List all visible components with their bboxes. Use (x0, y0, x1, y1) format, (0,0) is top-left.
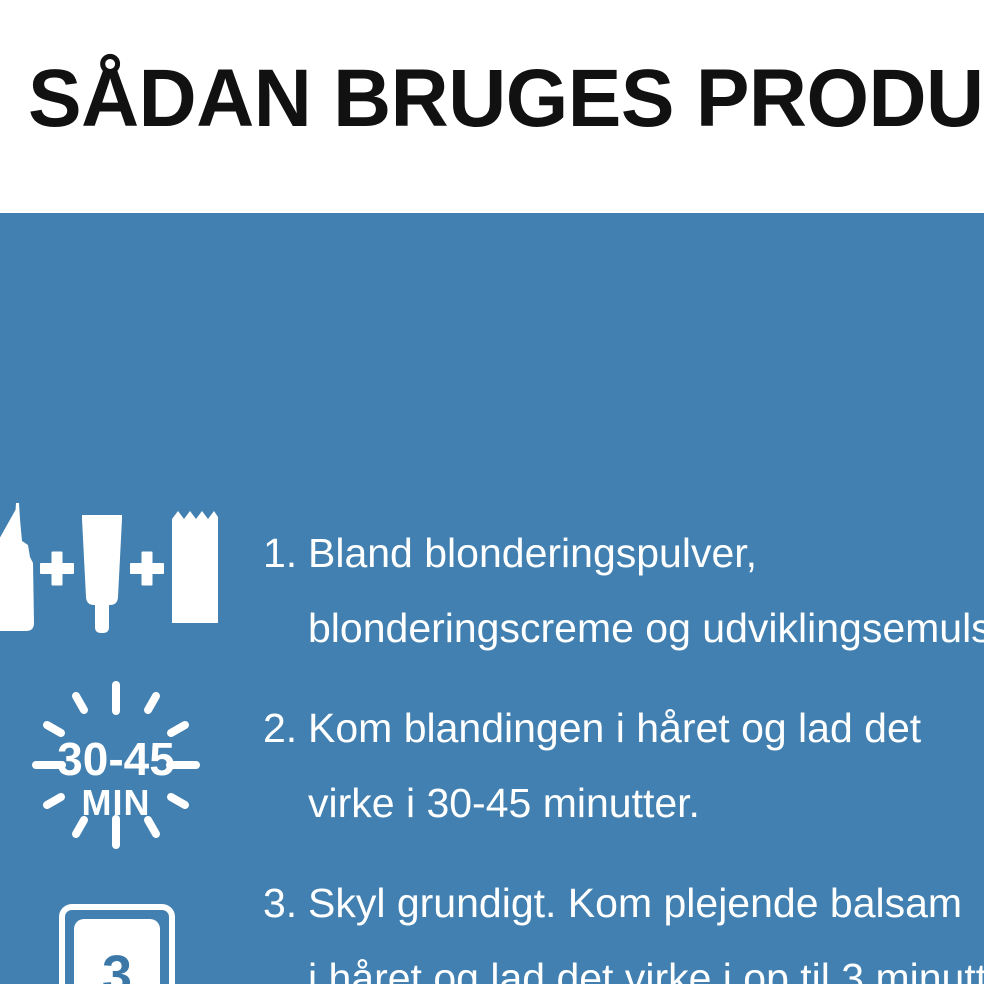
cream-tube-icon (82, 515, 122, 633)
plus-icon (40, 552, 74, 586)
step-2-number: 2. (263, 691, 297, 766)
timer-value-label: 30-45 (57, 733, 175, 785)
mix-products-svg (0, 501, 232, 641)
step-3-line-1: Skyl grundigt. Kom plejende balsam (308, 866, 962, 941)
mix-products-icon (0, 501, 232, 641)
infographic-page: SÅDAN BRUGES PRODUKTET (0, 0, 984, 984)
header-band: SÅDAN BRUGES PRODUKTET (0, 0, 984, 213)
plus-icon (130, 552, 164, 586)
timer-unit-label: MIN (82, 782, 151, 823)
step-2-line-2: virke i 30-45 minutter. (308, 766, 700, 841)
powder-sachet-icon (172, 511, 218, 623)
step-2-line-1: Kom blandingen i håret og lad det (308, 691, 921, 766)
card-value-label: 3 (102, 945, 132, 984)
page-title: SÅDAN BRUGES PRODUKTET (28, 56, 984, 142)
timer-3-min-card-svg: 3 MIN (58, 903, 176, 984)
timer-3-min-card-icon: 3 MIN (58, 903, 176, 984)
step-1-line-2: blonderingscreme og udviklingsemulsion (308, 591, 984, 666)
step-1-number: 1. (263, 516, 297, 591)
step-1-line-1: Bland blonderingspulver, (308, 516, 757, 591)
timer-30-45-min-svg: 30-45 MIN (18, 679, 214, 851)
instructions-panel: 30-45 MIN 3 MIN 1. Bland blonderingspulv… (0, 213, 984, 984)
step-3-line-2: i håret og lad det virke i op til 3 minu… (308, 941, 984, 984)
timer-30-45-min-icon: 30-45 MIN (18, 679, 214, 851)
step-3-number: 3. (263, 866, 297, 941)
developer-bottle-icon (0, 503, 34, 631)
